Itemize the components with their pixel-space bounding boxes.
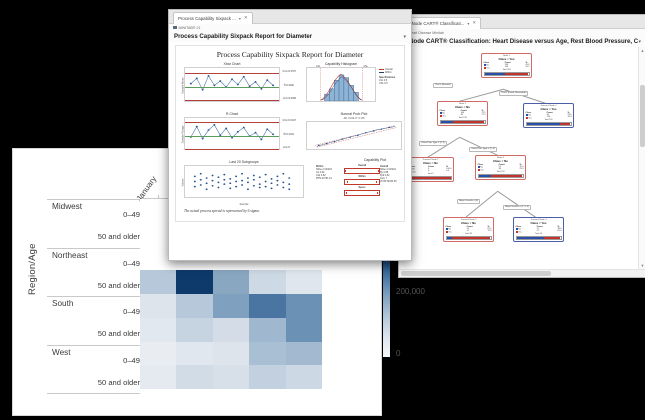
- sixpack-breadcrumb: MINITAB® 21: [169, 24, 411, 31]
- heatmap-cell: [286, 365, 322, 389]
- tree-node[interactable]: Terminal Node 3Class = YesClassNoYesCoun…: [513, 217, 564, 242]
- histogram-legend: Overall Within Specifications LSL 0.5 US…: [379, 68, 411, 85]
- tree-node-bar: [478, 174, 524, 179]
- colorbar-gradient: [383, 257, 390, 357]
- row-group-midwest: Midwest 0–49 50 and older: [47, 199, 140, 248]
- row-region-label: Midwest: [52, 202, 82, 211]
- tree-node-class: Class = No: [440, 105, 486, 109]
- histogram-lsl: LSL: [316, 65, 320, 68]
- heatmap-cell: [249, 270, 285, 294]
- sixpack-tab-label: Process Capability Sixpack ...: [178, 16, 236, 21]
- rchart-ucl: UCL=0.0047: [283, 119, 297, 122]
- cart-tab-label: 4 Node CART® Classificati...: [408, 21, 464, 26]
- tree-node-class: Class = Yes: [516, 221, 562, 225]
- histogram-usl: USL: [363, 65, 368, 68]
- sixpack-tabstrip[interactable]: Process Capability Sixpack ... ▾ ✕: [169, 10, 411, 24]
- screen: Region/Age Midwest 0–49 50 and older Nor…: [0, 0, 645, 420]
- row-sub-label: 0–49: [123, 210, 140, 219]
- sixpack-footnote: The actual process spread is represented…: [184, 209, 260, 213]
- panel-y-title: Sample Mean: [182, 77, 185, 94]
- row-region-label: South: [52, 299, 73, 308]
- heatmap-cell: [176, 365, 212, 389]
- tree-node-bar: [410, 176, 452, 181]
- scrollbar-thumb[interactable]: [640, 85, 645, 147]
- panel-title: R Chart: [184, 112, 280, 116]
- panel-xbar-chart: Xbar Chart: [184, 62, 280, 106]
- tree-edge-label: Thal = (Fixed, Reversible): [499, 91, 528, 96]
- capability-stats-within: Within StDev 0.00203 Cp 0.92 Cpk 0.82 PP…: [316, 165, 332, 180]
- heatmap-cell: [176, 318, 212, 342]
- capability-plot-box: Overall Within Specs: [344, 164, 380, 197]
- npp-subtitle: AD: 0.213, P: 0.176: [344, 117, 365, 120]
- chevron-down-icon[interactable]: ▾: [239, 16, 241, 21]
- tree-node[interactable]: Terminal Node 4Class = YesClassNoYesCoun…: [523, 103, 574, 128]
- heatmap-cell: [140, 270, 176, 294]
- plot-area: [184, 67, 280, 102]
- heatmap-cell: [213, 270, 249, 294]
- cap-row-label: Overall: [344, 164, 380, 167]
- plot-area: [306, 67, 376, 102]
- cart-body: Thal = (Normal)Thal = (Fixed, Reversible…: [399, 47, 645, 277]
- scrollbar-thumb[interactable]: [401, 271, 551, 276]
- heatmap-y-axis-title: Region/Age: [27, 243, 38, 295]
- cart-tree: Thal = (Normal)Thal = (Fixed, Reversible…: [403, 49, 634, 268]
- tree-edge: [460, 89, 504, 102]
- panel-r-chart: R Chart: [184, 112, 280, 154]
- heatmap-cell: [249, 365, 285, 389]
- panel-title: Normal Prob Plot: [306, 112, 402, 116]
- heatmap-cell: [213, 318, 249, 342]
- cart-horizontal-scrollbar[interactable]: [399, 269, 645, 277]
- row-sub-label: 50 and older: [98, 232, 140, 241]
- sixpack-page-title: Process Capability Sixpack Report for Di…: [174, 33, 312, 40]
- rchart-center: R̄=0.0022: [284, 133, 294, 136]
- cap-row-label: Within: [344, 175, 380, 178]
- legend-within: Within: [385, 71, 392, 74]
- heatmap-cell: [140, 294, 176, 318]
- tree-edge-label: Thal = (Normal): [433, 83, 453, 88]
- heatmap-cell: [140, 342, 176, 366]
- tree-node[interactable]: Node 3Class = NoClassNoYesCount9138%70.5…: [475, 155, 526, 180]
- row-sub-label: 50 and older: [98, 378, 140, 387]
- row-group-northeast: Northeast 0–49 50 and older: [47, 248, 140, 297]
- heatmap-cell: [176, 270, 212, 294]
- rchart-lcl: LCL=0: [283, 146, 290, 149]
- row-sub-label: 0–49: [123, 356, 140, 365]
- chevron-down-icon[interactable]: ▾: [403, 34, 406, 40]
- tree-node-bar: [526, 122, 572, 127]
- xbar-ucl: UCL=0.9787: [283, 70, 297, 73]
- tree-node[interactable]: Terminal Node 2Class = NoClassNoYesCount…: [443, 217, 494, 242]
- stat-row: LTCB 50433.55: [380, 180, 397, 183]
- plot-area: [184, 165, 304, 198]
- tree-node-class: Class = Yes: [526, 107, 572, 111]
- cap-row-label: Specs: [344, 186, 380, 189]
- xbar-center: X̄=0.9000: [284, 84, 294, 87]
- worksheet-icon: [173, 26, 177, 30]
- xbar-lcl: LCL=0.9099: [283, 97, 296, 100]
- heatmap-row-labels: Midwest 0–49 50 and older Northeast 0–49…: [47, 199, 140, 394]
- panel-y-title: Sample Range: [182, 126, 185, 144]
- heatmap-cell: [249, 342, 285, 366]
- chevron-down-icon[interactable]: ▾: [467, 21, 469, 26]
- capability-stats-overall: Overall StDev 0.00204 Pp 0.88 Ppk 0.82 C…: [380, 165, 397, 183]
- heatmap-cell: [140, 318, 176, 342]
- cart-tab[interactable]: 4 Node CART® Classificati... ▾ ✕: [403, 17, 481, 29]
- heatmap-cell: [249, 318, 285, 342]
- tree-node-bar: [446, 236, 492, 241]
- sixpack-tab[interactable]: Process Capability Sixpack ... ▾ ✕: [173, 12, 253, 24]
- tree-node[interactable]: Node 1Class = YesClassNoYesCount139164%4…: [481, 53, 532, 78]
- row-group-west: West 0–49 50 and older: [47, 345, 140, 395]
- tree-node[interactable]: Terminal Node 1Class = NoClassNoYesCount…: [407, 157, 454, 182]
- cart-breadcrumb-text: Heart Disease Minitab: [409, 31, 444, 35]
- panel-last-20-subgroups: Last 20 Subgroups: [184, 160, 304, 202]
- cart-page-title: 4 Node CART® Classification: Heart Disea…: [404, 38, 638, 45]
- histogram-series: [307, 68, 375, 101]
- cart-vertical-scrollbar[interactable]: ▲ ▼: [638, 47, 645, 269]
- heatmap-cell: [286, 318, 322, 342]
- row-region-label: West: [52, 348, 71, 357]
- close-icon[interactable]: ✕: [472, 20, 476, 26]
- subgroups-series: [185, 166, 303, 197]
- panel-y-title: Values: [182, 178, 185, 186]
- row-region-label: Northeast: [52, 251, 88, 260]
- close-icon[interactable]: ✕: [244, 15, 248, 21]
- heatmap-cell: [249, 294, 285, 318]
- row-sub-label: 0–49: [123, 307, 140, 316]
- cart-tabstrip[interactable]: 4 Node CART® Classificati... ▾ ✕: [399, 15, 645, 29]
- cart-breadcrumb: Heart Disease Minitab: [399, 29, 645, 36]
- tree-node-class: Class = Yes: [484, 57, 530, 61]
- colorbar-label-high: 200,000: [396, 287, 425, 296]
- row-sub-label: 50 and older: [98, 329, 140, 338]
- tree-edge-label: Chest Pain Type = (2, 3): [419, 141, 447, 146]
- row-sub-label: 50 and older: [98, 281, 140, 290]
- panel-x-title: Sample: [184, 203, 304, 206]
- plot-area: [306, 121, 402, 150]
- scroll-down-icon[interactable]: ▼: [639, 262, 645, 269]
- row-group-south: South 0–49 50 and older: [47, 296, 140, 345]
- heatmap-cell: [286, 294, 322, 318]
- tree-edge: [466, 191, 498, 217]
- tree-node-bar: [516, 236, 562, 241]
- plot-area: [184, 117, 280, 150]
- cart-sheet: Thal = (Normal)Thal = (Fixed, Reversible…: [403, 49, 634, 268]
- tree-edge-label: Chest Pain Type = (1, 4): [469, 147, 497, 152]
- panel-title: Xbar Chart: [184, 62, 280, 66]
- scroll-up-icon[interactable]: ▲: [639, 47, 645, 54]
- heatmap-cell: [213, 365, 249, 389]
- heatmap-cell: [286, 270, 322, 294]
- sixpack-sheet: Process Capability Sixpack Report for Di…: [175, 45, 405, 222]
- heatmap-cell: [213, 294, 249, 318]
- panel-normal-prob-plot: Normal Prob Plot AD: 0.213, P: 0.176: [306, 112, 402, 154]
- row-sub-label: 0–49: [123, 259, 140, 268]
- heatmap-cell: [176, 342, 212, 366]
- colorbar-label-low: 0: [396, 349, 400, 358]
- npp-series: [307, 122, 401, 149]
- tree-node-class: Class = No: [446, 221, 492, 225]
- panel-capability-histogram: Capability Histogram: [306, 62, 376, 106]
- sixpack-report-window[interactable]: Process Capability Sixpack ... ▾ ✕ MINIT…: [168, 9, 412, 261]
- chevron-down-icon[interactable]: ▾: [638, 39, 641, 45]
- tree-node-class: Class = No: [410, 161, 452, 165]
- heatmap-cell: [176, 294, 212, 318]
- tree-node-bar: [440, 120, 486, 125]
- heatmap-cell: [140, 365, 176, 389]
- heatmap-colorbar: [383, 257, 390, 357]
- sixpack-report-heading: Process Capability Sixpack Report for Di…: [176, 50, 404, 59]
- panel-capability-plot: Capability Plot Overall Within Specs: [316, 158, 402, 204]
- tree-node[interactable]: Node 2Class = NoClassNoYesCount10038%72.…: [437, 101, 488, 126]
- heatmap-cell: [213, 342, 249, 366]
- sixpack-breadcrumb-text: MINITAB® 21: [179, 26, 201, 30]
- tree-node-bar: [484, 72, 530, 77]
- panel-title: Last 20 Subgroups: [184, 160, 304, 164]
- heatmap-cell: [286, 342, 322, 366]
- spec-usl: USL 0.5: [379, 82, 411, 85]
- panel-title: Capability Plot: [348, 158, 402, 162]
- tree-node-class: Class = No: [478, 159, 524, 163]
- sixpack-body: Process Capability Sixpack Report for Di…: [169, 42, 411, 260]
- cart-report-window[interactable]: 4 Node CART® Classificati... ▾ ✕ Heart D…: [398, 14, 645, 278]
- tree-edge-label: Major Vessels = (1, 2, 3): [503, 205, 531, 210]
- stat-row: PPM 40751.61: [316, 177, 332, 180]
- tree-edge-label: Major Vessels = (0): [457, 199, 480, 204]
